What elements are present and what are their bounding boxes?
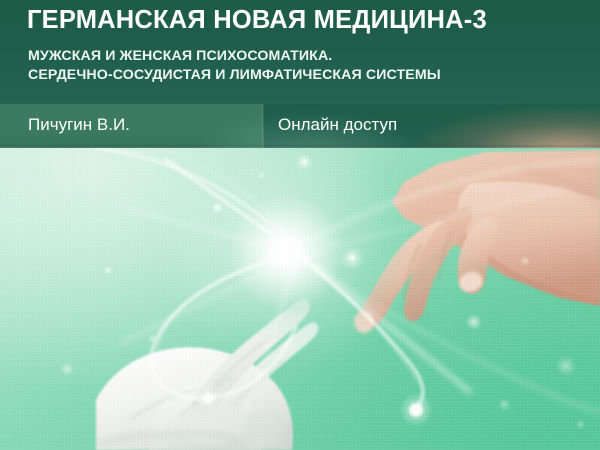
- page-subtitle-line-1: МУЖСКАЯ И ЖЕНСКАЯ ПСИХОСОМАТИКА.: [28, 47, 441, 66]
- author-name: Пичугин В.И.: [28, 113, 130, 137]
- course-poster: ГЕРМАНСКАЯ НОВАЯ МЕДИЦИНА-3 МУЖСКАЯ И ЖЕ…: [0, 0, 600, 450]
- hero-image: [0, 148, 600, 450]
- byline-divider: [262, 104, 264, 148]
- page-subtitle-line-2: СЕРДЕЧНО-СОСУДИСТАЯ И ЛИМФАТИЧЕСКАЯ СИСТ…: [28, 66, 441, 85]
- header-hand-bleed: [410, 106, 600, 148]
- hero-grain-overlay: [0, 148, 600, 450]
- page-subtitle: МУЖСКАЯ И ЖЕНСКАЯ ПСИХОСОМАТИКА. СЕРДЕЧН…: [28, 47, 441, 85]
- online-access-label[interactable]: Онлайн доступ: [278, 113, 397, 137]
- page-title: ГЕРМАНСКАЯ НОВАЯ МЕДИЦИНА-3: [27, 5, 487, 35]
- poster-header: ГЕРМАНСКАЯ НОВАЯ МЕДИЦИНА-3 МУЖСКАЯ И ЖЕ…: [0, 0, 600, 148]
